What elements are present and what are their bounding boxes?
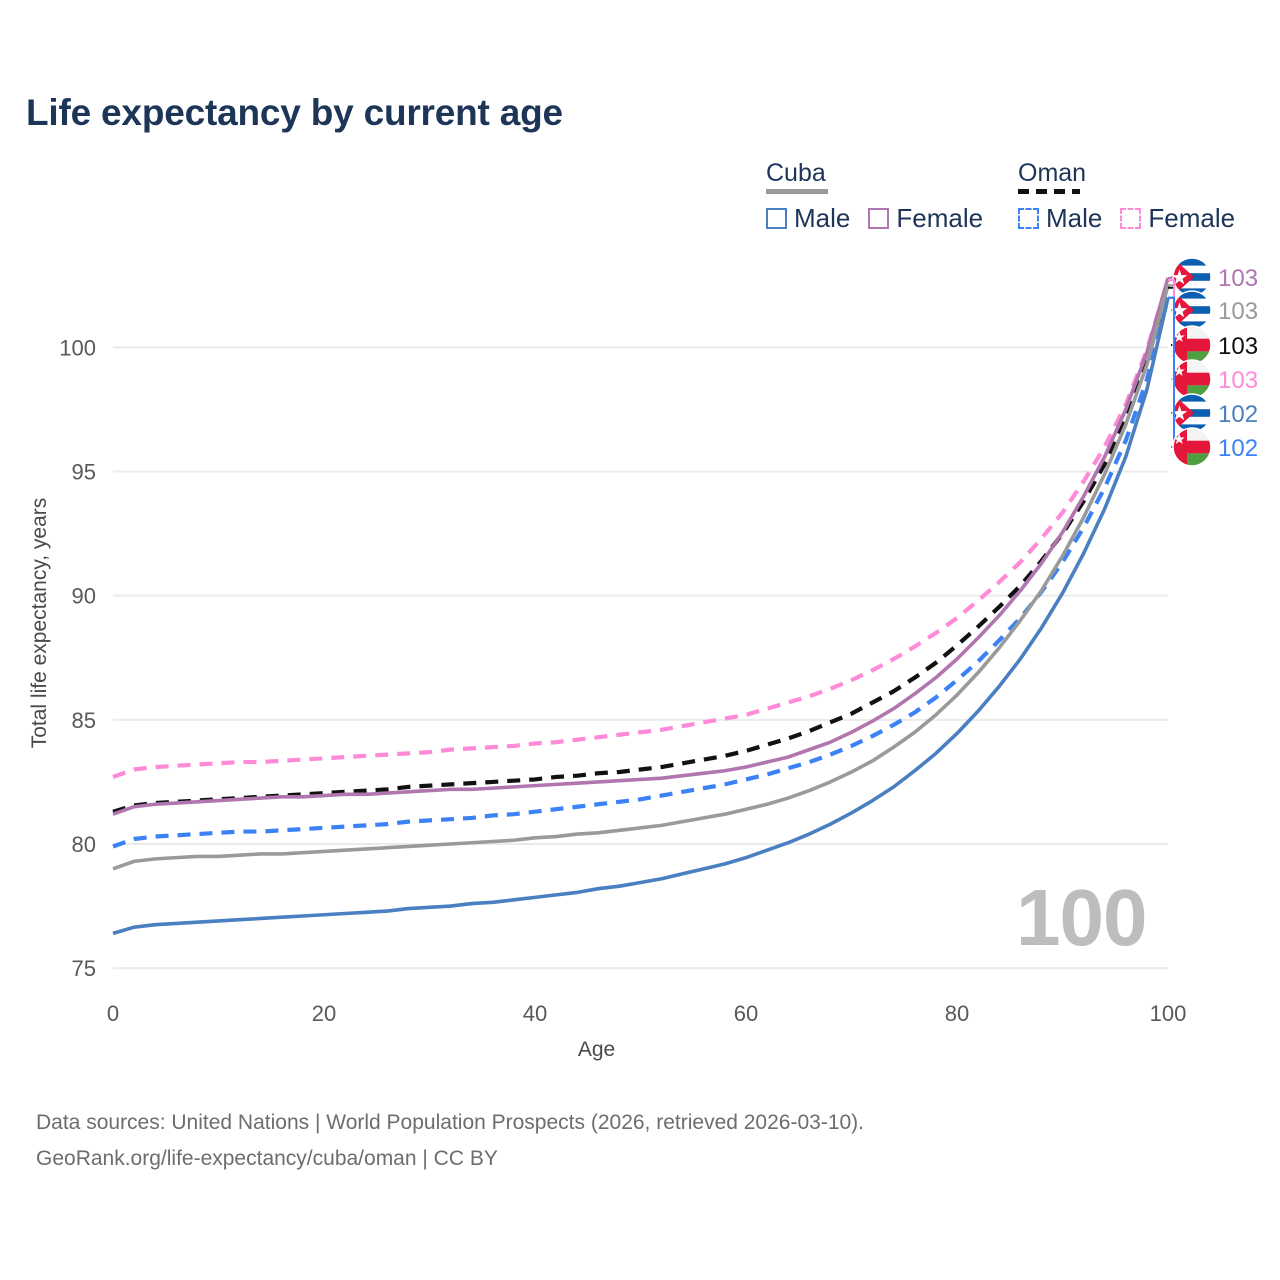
y-tick-90: 90 — [72, 584, 96, 609]
end-label-connector — [1168, 298, 1174, 447]
chart-plot: 020406080100 7580859095100 1031031031031… — [0, 0, 1280, 1080]
end-label-value-oman-total: 103 — [1218, 333, 1258, 360]
y-tick-80: 80 — [72, 832, 96, 857]
chart-gridlines — [113, 347, 1168, 968]
chart-page: Life expectancy by current age Cuba Male… — [0, 0, 1280, 1280]
chart-y-axis: 7580859095100 — [59, 335, 96, 981]
x-tick-40: 40 — [523, 1001, 547, 1026]
chart-footer: Data sources: United Nations | World Pop… — [36, 1105, 864, 1177]
y-tick-95: 95 — [72, 460, 96, 485]
end-label-value-oman-male: 102 — [1218, 435, 1258, 462]
x-tick-100: 100 — [1150, 1001, 1187, 1026]
chart-series — [113, 278, 1168, 934]
x-axis-title: Age — [578, 1038, 615, 1061]
series-line-oman-female — [113, 280, 1168, 777]
series-line-oman-male — [113, 298, 1168, 847]
series-line-cuba-male — [113, 298, 1168, 934]
x-tick-0: 0 — [107, 1001, 119, 1026]
end-label-cuba-female: 103 — [1168, 258, 1258, 296]
footer-attribution: GeoRank.org/life-expectancy/cuba/oman | … — [36, 1141, 864, 1177]
end-label-value-cuba-male: 102 — [1218, 401, 1258, 428]
chart-x-axis: 020406080100 — [107, 1001, 1186, 1026]
end-label-value-cuba-female: 103 — [1218, 265, 1258, 292]
x-tick-60: 60 — [734, 1001, 758, 1026]
y-tick-85: 85 — [72, 708, 96, 733]
x-tick-80: 80 — [945, 1001, 969, 1026]
series-line-cuba-total — [113, 285, 1168, 869]
chart-end-labels: 103103103103102102 — [1168, 258, 1258, 466]
y-tick-75: 75 — [72, 956, 96, 981]
y-axis-title: Total life expectancy, years — [28, 498, 51, 749]
footer-data-sources: Data sources: United Nations | World Pop… — [36, 1105, 864, 1141]
end-label-value-oman-female: 103 — [1218, 367, 1258, 394]
y-tick-100: 100 — [59, 335, 96, 360]
end-label-value-cuba-total: 103 — [1218, 298, 1258, 325]
x-tick-20: 20 — [312, 1001, 336, 1026]
